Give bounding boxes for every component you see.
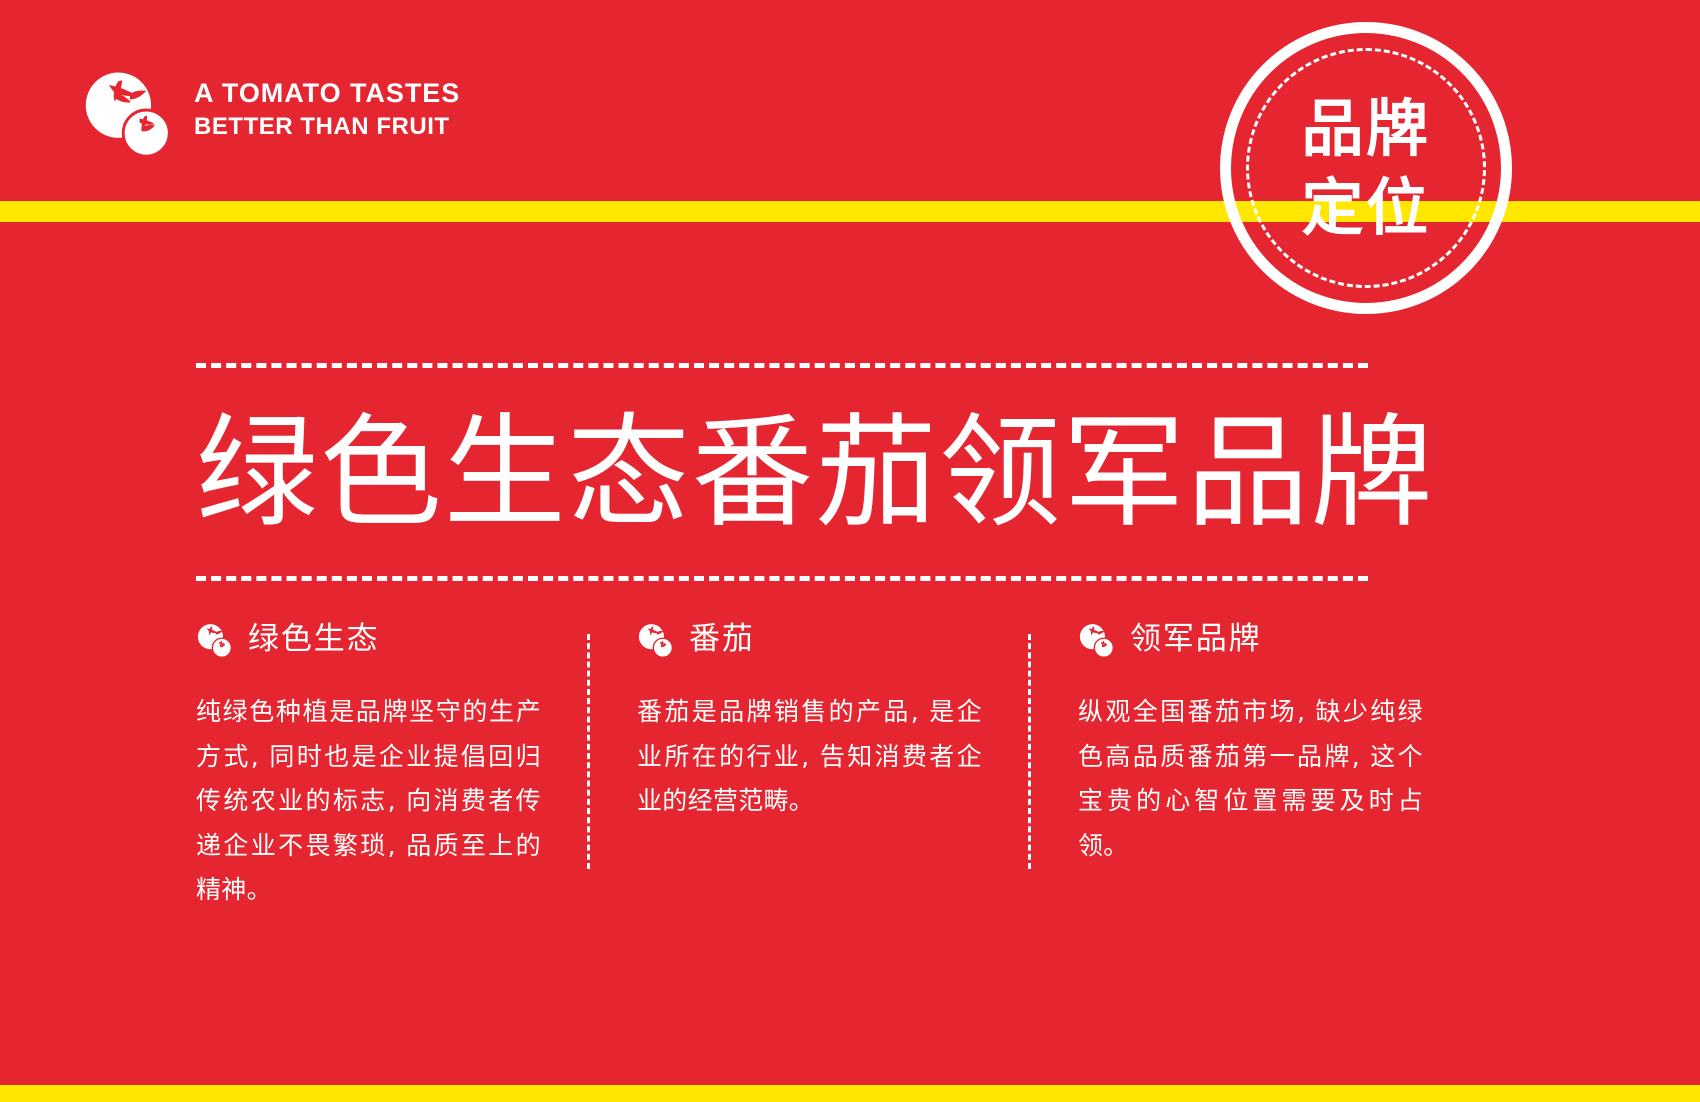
feature-title-3: 领军品牌 [1130, 624, 1261, 655]
feature-header-2: 番茄 [637, 620, 982, 658]
column-divider-2 [1028, 634, 1032, 869]
feature-column-2: 番茄 番茄是品牌销售的产品, 是企业所在的行业, 告知消费者企业的经营范畴。 [637, 620, 982, 913]
brand-tagline-line1: A TOMATO TASTES [194, 78, 460, 110]
feature-body-3: 纵观全国番茄市场, 缺少纯绿色高品质番茄第一品牌, 这个宝贵的心智位置需要及时占… [1078, 690, 1423, 868]
headline-block: 绿色生态番茄领军品牌 [196, 363, 1368, 581]
brand-tagline-line2: BETTER THAN FRUIT [194, 113, 460, 142]
feature-column-1: 绿色生态 纯绿色种植是品牌坚守的生产方式, 同时也是企业提倡回归传统农业的标志,… [196, 620, 541, 913]
brand-positioning-badge: 品牌 定位 [1220, 22, 1512, 314]
badge-label-line1: 品牌 [1302, 89, 1431, 168]
feature-header-3: 领军品牌 [1078, 620, 1423, 658]
brand-lockup: A TOMATO TASTES BETTER THAN FRUIT [80, 62, 460, 158]
feature-title-2: 番茄 [689, 624, 755, 655]
badge-label-line2: 定位 [1302, 168, 1431, 247]
feature-body-2: 番茄是品牌销售的产品, 是企业所在的行业, 告知消费者企业的经营范畴。 [637, 690, 982, 824]
tomato-icon [637, 620, 675, 658]
brand-wordmark: A TOMATO TASTES BETTER THAN FRUIT [194, 78, 460, 142]
feature-columns: 绿色生态 纯绿色种植是品牌坚守的生产方式, 同时也是企业提倡回归传统农业的标志,… [196, 620, 1406, 913]
feature-header-1: 绿色生态 [196, 620, 541, 658]
feature-title-1: 绿色生态 [248, 624, 379, 655]
bottom-yellow-stripe [0, 1085, 1700, 1102]
tomato-icon [1078, 620, 1116, 658]
badge-label: 品牌 定位 [1220, 22, 1512, 314]
headline-top-dashed-rule [196, 363, 1368, 368]
feature-body-1: 纯绿色种植是品牌坚守的生产方式, 同时也是企业提倡回归传统农业的标志, 向消费者… [196, 690, 541, 913]
page-title: 绿色生态番茄领军品牌 [196, 406, 1368, 540]
tomato-logo-icon [80, 62, 176, 158]
tomato-icon [196, 620, 234, 658]
feature-column-3: 领军品牌 纵观全国番茄市场, 缺少纯绿色高品质番茄第一品牌, 这个宝贵的心智位置… [1078, 620, 1423, 913]
headline-bottom-dashed-rule [196, 576, 1368, 581]
column-divider-1 [587, 634, 591, 869]
poster-canvas: A TOMATO TASTES BETTER THAN FRUIT 品牌 定位 … [0, 0, 1700, 1102]
